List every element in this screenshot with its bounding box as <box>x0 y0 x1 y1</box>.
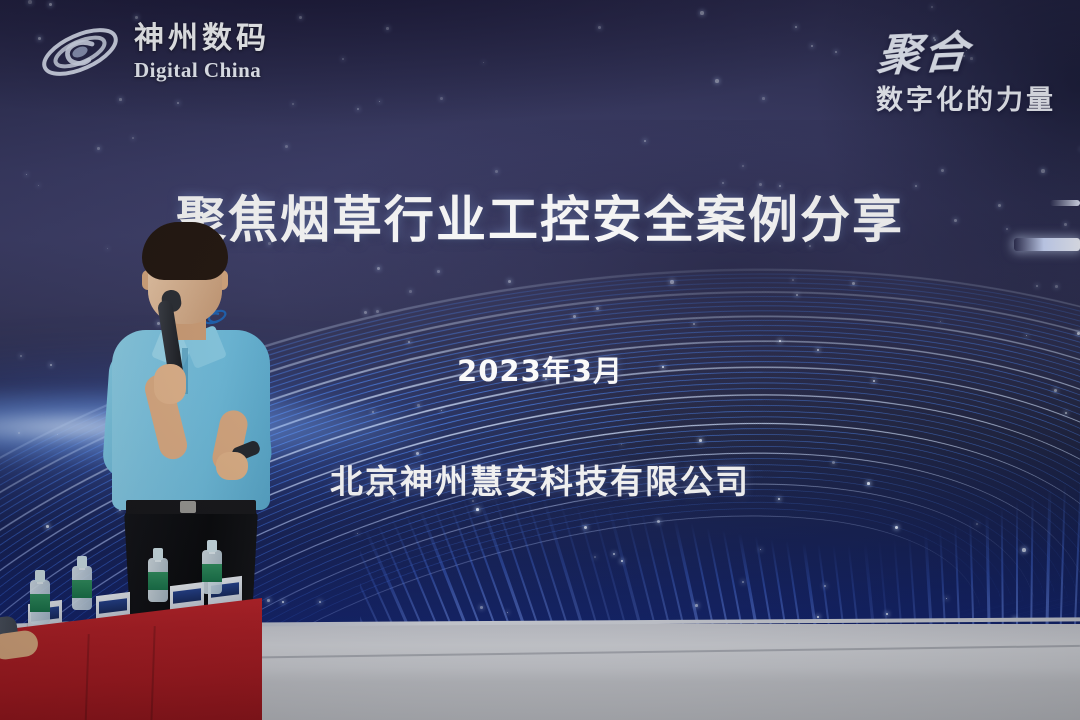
digital-china-swirl-icon <box>36 20 124 84</box>
attendee-foreground <box>0 616 58 676</box>
speaker-right-hand <box>216 452 248 480</box>
event-subtitle-text: 数字化的力量 <box>876 78 1056 117</box>
water-bottle <box>202 538 222 594</box>
logo-english-text: Digital China <box>134 60 270 81</box>
speaker-left-hand <box>154 364 186 404</box>
water-bottle <box>148 546 168 602</box>
speaker-hair <box>142 222 228 280</box>
water-bottle <box>72 554 92 610</box>
front-row-table <box>0 560 268 720</box>
speaker-belt-buckle <box>180 501 196 513</box>
digital-china-logo: 神州数码 Digital China <box>36 20 270 84</box>
conference-photo: 神州数码 Digital China 聚合 数字化的力量 聚焦烟草行业工控安全案… <box>0 0 1080 720</box>
event-calligraphy-text: 聚合 <box>875 12 1059 84</box>
attendee-hand <box>0 629 40 661</box>
logo-chinese-text: 神州数码 <box>134 24 270 54</box>
event-logo: 聚合 数字化的力量 <box>876 16 1056 117</box>
